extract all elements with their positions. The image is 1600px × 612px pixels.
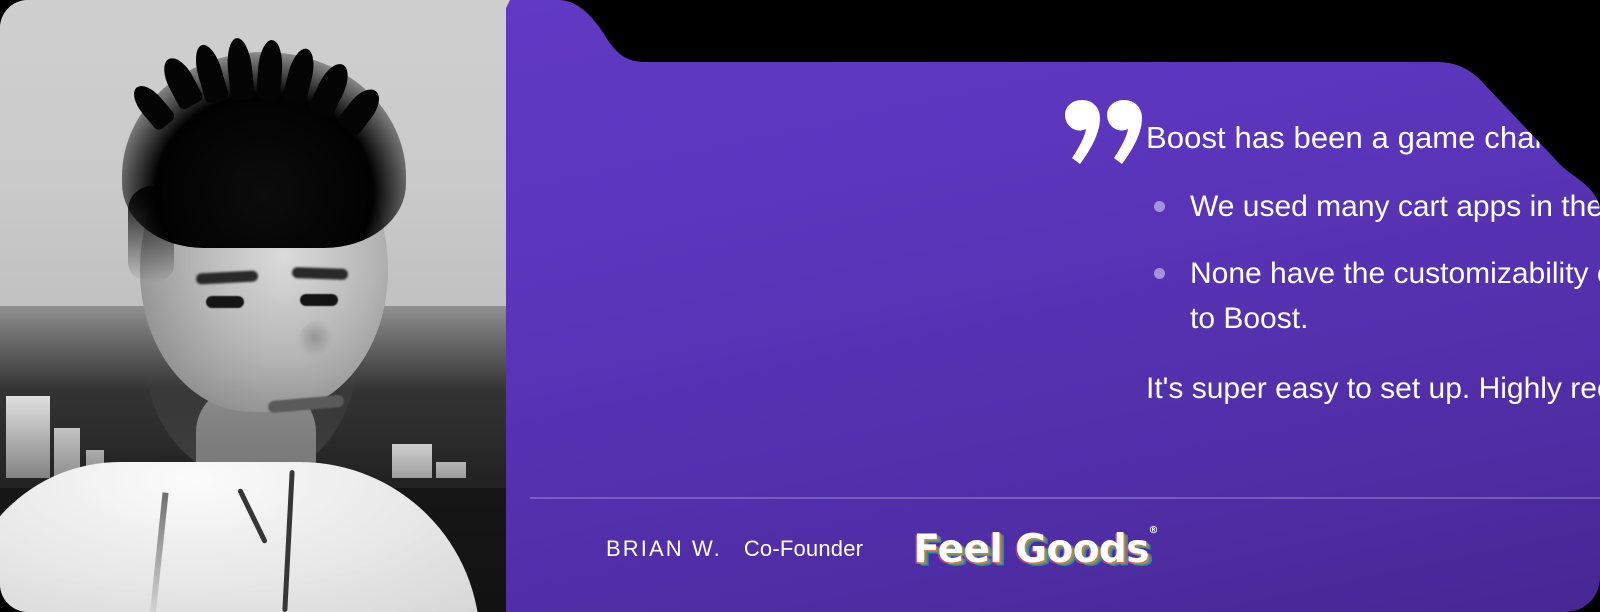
testimonial-bullet-text: None have the customizability or perform… (1190, 257, 1600, 335)
footer-divider (530, 497, 1600, 499)
testimonial-bullet-text: We used many cart apps in the past. (1190, 190, 1600, 223)
testimonial-card-stage: Boost has been a game changer for our ca… (0, 0, 1600, 612)
quote-mark-icon (1062, 92, 1146, 176)
testimonial-card: Boost has been a game changer for our ca… (506, 0, 1600, 612)
author-role: Co-Founder (744, 536, 863, 562)
testimonial-bullet-item: We used many cart apps in the past. (1146, 184, 1600, 229)
testimonial-headline: Boost has been a game changer for our ca… (1146, 118, 1600, 158)
photo-subject-eye (206, 296, 244, 308)
testimonial-copy: Boost has been a game changer for our ca… (1146, 118, 1600, 410)
brand-logo: Feel Goods® (913, 527, 1149, 572)
photo-subject-eye (300, 294, 338, 306)
brand-logo-text: Feel Goods (913, 527, 1149, 572)
testimonial-bullet-item: None have the customizability or perform… (1146, 251, 1600, 341)
bullet-dot-icon (1154, 201, 1165, 212)
testimonial-attribution: BRIAN W. Co-Founder Feel Goods® (606, 526, 1149, 572)
photo-subject-brow (292, 267, 348, 280)
testimonial-closing-line: It's super easy to set up. Highly recomm… (1146, 369, 1600, 410)
portrait-photo-canvas (0, 0, 510, 612)
bullet-dot-icon (1154, 268, 1165, 279)
photo-subject-nose (298, 320, 340, 364)
brand-trademark-icon: ® (1148, 525, 1157, 536)
portrait-photo (0, 0, 510, 612)
author-name: BRIAN W. (606, 536, 722, 562)
testimonial-bullet-list: We used many cart apps in the past. None… (1146, 184, 1600, 341)
testimonial-card-inner: Boost has been a game changer for our ca… (506, 0, 1600, 612)
